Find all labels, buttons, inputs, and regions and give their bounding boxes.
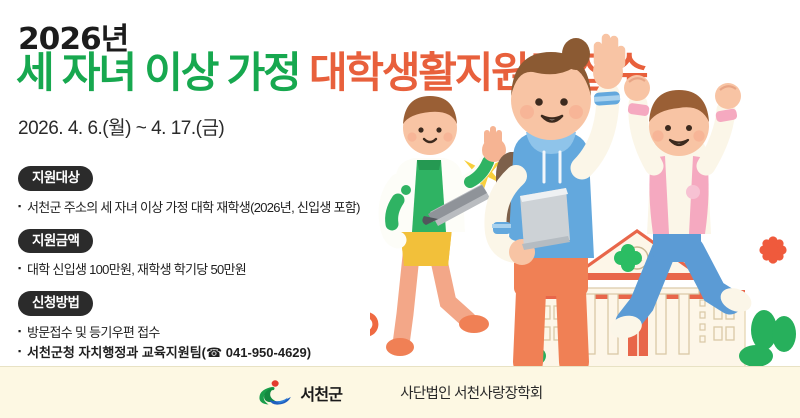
bullet-marker-icon: ▪ <box>18 323 27 340</box>
section-label-method: 신청방법 <box>18 291 93 316</box>
bullet-item: ▪ 서천군청 자치행정과 교육지원팀(☎ 041-950-4629) <box>18 343 418 363</box>
bullet-marker-icon: ▪ <box>18 343 27 360</box>
bullet-marker-icon: ▪ <box>18 260 27 277</box>
info-sections: 지원대상 ▪ 서천군 주소의 세 자녀 이상 가정 대학 재학생(2026년, … <box>18 166 418 363</box>
section-label-eligibility: 지원대상 <box>18 166 93 191</box>
bullet-text: 대학 신입생 100만원, 재학생 학기당 50만원 <box>27 260 246 280</box>
organization-name-label: 사단법인 서천사랑장학회 <box>400 382 542 403</box>
character-student-jumping <box>608 75 755 341</box>
bullet-list-method: ▪ 방문접수 및 등기우편 접수 ▪ 서천군청 자치행정과 교육지원팀(☎ 04… <box>18 323 418 363</box>
sparkle-star-icon <box>464 152 502 192</box>
bullet-item: ▪ 대학 신입생 100만원, 재학생 학기당 50만원 <box>18 260 418 280</box>
brand-name-label: 서천군 <box>300 381 342 405</box>
seocheon-gun-logo-icon <box>257 380 291 406</box>
bullet-list-eligibility: ▪ 서천군 주소의 세 자녀 이상 가정 대학 재학생(2026년, 신입생 포… <box>18 198 418 218</box>
red-flower-burst-icon <box>759 236 786 263</box>
application-date-range: 2026. 4. 6.(월) ~ 4. 17.(금) <box>18 113 224 140</box>
info-block-method: 신청방법 ▪ 방문접수 및 등기우편 접수 ▪ 서천군청 자치행정과 교육지원팀… <box>18 291 418 363</box>
book-prop <box>520 188 570 250</box>
info-block-amount: 지원금액 ▪ 대학 신입생 100만원, 재학생 학기당 50만원 <box>18 229 418 281</box>
laptop-prop <box>422 184 490 226</box>
green-clover-icon <box>614 244 642 272</box>
school-building-illustration <box>514 231 796 368</box>
bullet-text: 방문접수 및 등기우편 접수 <box>27 323 160 343</box>
bullet-text: 서천군 주소의 세 자녀 이상 가정 대학 재학생(2026년, 신입생 포함) <box>27 198 360 218</box>
bullet-list-amount: ▪ 대학 신입생 100만원, 재학생 학기당 50만원 <box>18 260 418 280</box>
headline-segment-green: 세 자녀 이상 가정 <box>16 49 309 96</box>
bullet-item: ▪ 서천군 주소의 세 자녀 이상 가정 대학 재학생(2026년, 신입생 포… <box>18 198 418 218</box>
headline-segment-orange: 대학생활지원금 접수 <box>309 49 646 96</box>
section-label-amount: 지원금액 <box>18 229 93 254</box>
seocheon-gun-brand: 서천군 <box>257 380 342 406</box>
bullet-marker-icon: ▪ <box>18 198 27 215</box>
contact-text: 서천군청 자치행정과 교육지원팀(☎ 041-950-4629) <box>27 343 311 363</box>
bullet-item: ▪ 방문접수 및 등기우편 접수 <box>18 323 418 343</box>
banner-footer: 서천군 사단법인 서천사랑장학회 <box>0 366 800 418</box>
headline-main: 세 자녀 이상 가정 대학생활지원금 접수 <box>16 52 646 94</box>
info-block-eligibility: 지원대상 ▪ 서천군 주소의 세 자녀 이상 가정 대학 재학생(2026년, … <box>18 166 418 218</box>
promo-banner: 2026년 세 자녀 이상 가정 대학생활지원금 접수 2026. 4. 6.(… <box>0 0 800 418</box>
